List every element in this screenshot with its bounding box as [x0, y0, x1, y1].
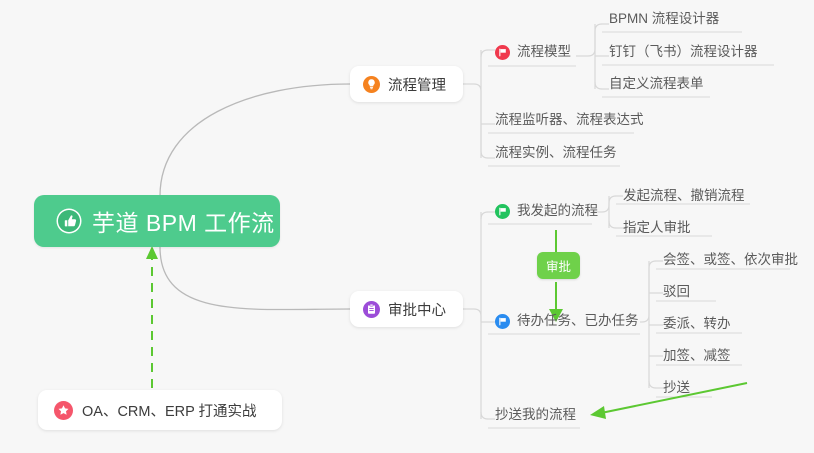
leaf-jiaqian-jianqian[interactable]: 加签、减签: [663, 348, 731, 370]
lightbulb-icon: [363, 76, 380, 93]
leaf-label: 委派、转办: [663, 316, 731, 331]
branch-label: 审批中心: [388, 299, 446, 320]
star-icon: [54, 401, 73, 420]
leaf-label: 流程模型: [517, 44, 571, 60]
leaf-label: 抄送: [663, 380, 690, 395]
leaf-weipai-zhuanban[interactable]: 委派、转办: [663, 316, 731, 338]
leaf-label: 加签、减签: [663, 348, 731, 363]
wire-daiban-trunk: [640, 261, 663, 322]
flag-blue-icon: [495, 314, 510, 329]
branch-node-shenpi-zhongxin[interactable]: 审批中心: [350, 291, 463, 327]
flag-green-icon: [495, 204, 510, 219]
leaf-label: 指定人审批: [623, 220, 691, 235]
wire-liucheng-stub-1: [481, 50, 495, 57]
leaf-label: 会签、或签、依次审批: [663, 252, 798, 267]
leaf-chaosong[interactable]: 抄送: [663, 380, 690, 402]
leaf-faqi-chexiao[interactable]: 发起流程、撤销流程: [623, 188, 745, 210]
wire-liucheng-trunk: [463, 84, 495, 158]
leaf-liucheng-shili[interactable]: 流程实例、流程任务: [495, 145, 617, 167]
leaf-liucheng-jiantingqi[interactable]: 流程监听器、流程表达式: [495, 112, 644, 134]
leaf-zhidingren-shenpi[interactable]: 指定人审批: [623, 220, 691, 242]
wire-shenpi-stub-1: [481, 212, 495, 219]
approve-badge: 审批: [537, 252, 580, 279]
branch-node-liucheng-guanli[interactable]: 流程管理: [350, 66, 463, 102]
leaf-label: 驳回: [663, 284, 690, 299]
dashed-arrow-note-to-root: [146, 246, 158, 388]
leaf-label: 流程实例、流程任务: [495, 145, 617, 160]
wire-root-to-liucheng: [160, 84, 350, 196]
leaf-label: 我发起的流程: [517, 203, 598, 219]
leaf-label: BPMN 流程设计器: [609, 11, 719, 26]
branch-label: 流程管理: [388, 74, 446, 95]
leaf-chaosong-wode-liucheng[interactable]: 抄送我的流程: [495, 407, 576, 429]
thumbs-up-icon: [56, 208, 82, 234]
leaf-huiqian-huoqian[interactable]: 会签、或签、依次审批: [663, 252, 798, 274]
leaf-label: 流程监听器、流程表达式: [495, 112, 644, 127]
leaf-label: 抄送我的流程: [495, 407, 576, 422]
wire-moxing-stub-bot: [595, 82, 609, 89]
leaf-wo-faqi-de-liucheng[interactable]: 我发起的流程: [495, 203, 598, 225]
leaf-label: 待办任务、已办任务: [517, 313, 639, 329]
note-card-integration[interactable]: OA、CRM、ERP 打通实战: [38, 390, 282, 430]
wire-faqi-stub-2: [609, 221, 623, 228]
note-card-label: OA、CRM、ERP 打通实战: [82, 400, 257, 421]
leaf-label: 发起流程、撤销流程: [623, 188, 745, 203]
leaf-custom-form[interactable]: 自定义流程表单: [609, 76, 704, 98]
leaf-bohui[interactable]: 驳回: [663, 284, 690, 306]
wire-shenpi-stub-3: [481, 412, 495, 419]
leaf-label: 自定义流程表单: [609, 76, 704, 91]
clipboard-icon: [363, 301, 380, 318]
leaf-dingding-designer[interactable]: 钉钉（飞书）流程设计器: [609, 44, 758, 66]
leaf-daiban-yiban-renwu[interactable]: 待办任务、已办任务: [495, 313, 639, 335]
leaf-label: 钉钉（飞书）流程设计器: [609, 44, 758, 59]
leaf-liucheng-moxing[interactable]: 流程模型: [495, 44, 571, 66]
mindmap-canvas: 芋道 BPM 工作流 流程管理 审批中心: [0, 0, 814, 453]
wire-daiban-stub-5: [649, 381, 663, 388]
root-label: 芋道 BPM 工作流: [92, 204, 275, 238]
leaf-bpmn-designer[interactable]: BPMN 流程设计器: [609, 11, 719, 33]
root-node[interactable]: 芋道 BPM 工作流: [34, 195, 280, 247]
wire-moxing-trunk: [576, 24, 609, 56]
flag-red-icon: [495, 45, 510, 60]
wire-root-to-shenpi: [160, 247, 350, 310]
wire-shenpi-trunk: [463, 309, 481, 322]
